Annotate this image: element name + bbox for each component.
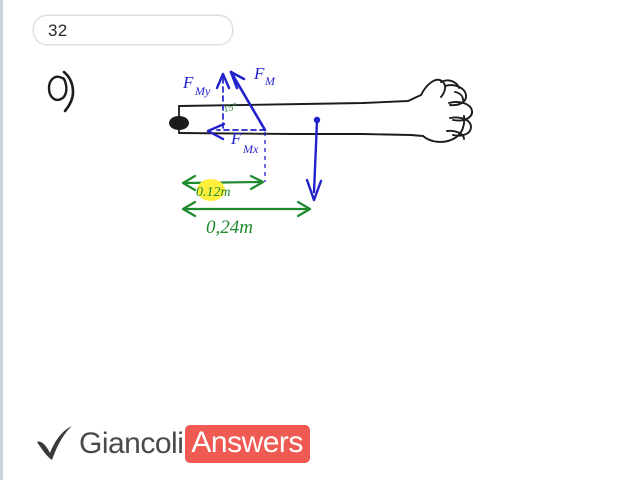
angle-label-15deg: 15° — [222, 101, 238, 115]
svg-text:F: F — [253, 64, 265, 83]
logo-text-giancoli: Giancoli — [79, 427, 183, 461]
checkmark-icon — [33, 423, 75, 465]
handwritten-diagram: F My F M F Mx 15° — [3, 0, 640, 480]
svg-text:F: F — [182, 73, 194, 92]
label-fm: F M — [253, 64, 276, 88]
label-fmy: F My — [182, 73, 211, 98]
load-force-arrow — [307, 117, 321, 200]
giancoli-answers-logo: Giancoli Answers — [33, 420, 310, 468]
dimension-label-long: 0,24m — [206, 217, 253, 238]
screenshot-canvas: 32 — [0, 0, 640, 480]
force-vector-fmy — [217, 74, 229, 128]
svg-text:M: M — [264, 74, 276, 88]
svg-text:Mx: Mx — [242, 142, 259, 156]
dimension-arrow-long — [183, 202, 310, 216]
dimension-label-short: 0.12m — [196, 185, 231, 200]
forearm-outline — [179, 95, 423, 136]
logo-badge-answers: Answers — [185, 425, 310, 463]
svg-text:My: My — [194, 84, 211, 98]
hand-icon — [421, 80, 472, 142]
svg-text:F: F — [230, 129, 242, 148]
part-label-a — [49, 72, 73, 111]
elbow-joint-icon — [169, 116, 189, 130]
